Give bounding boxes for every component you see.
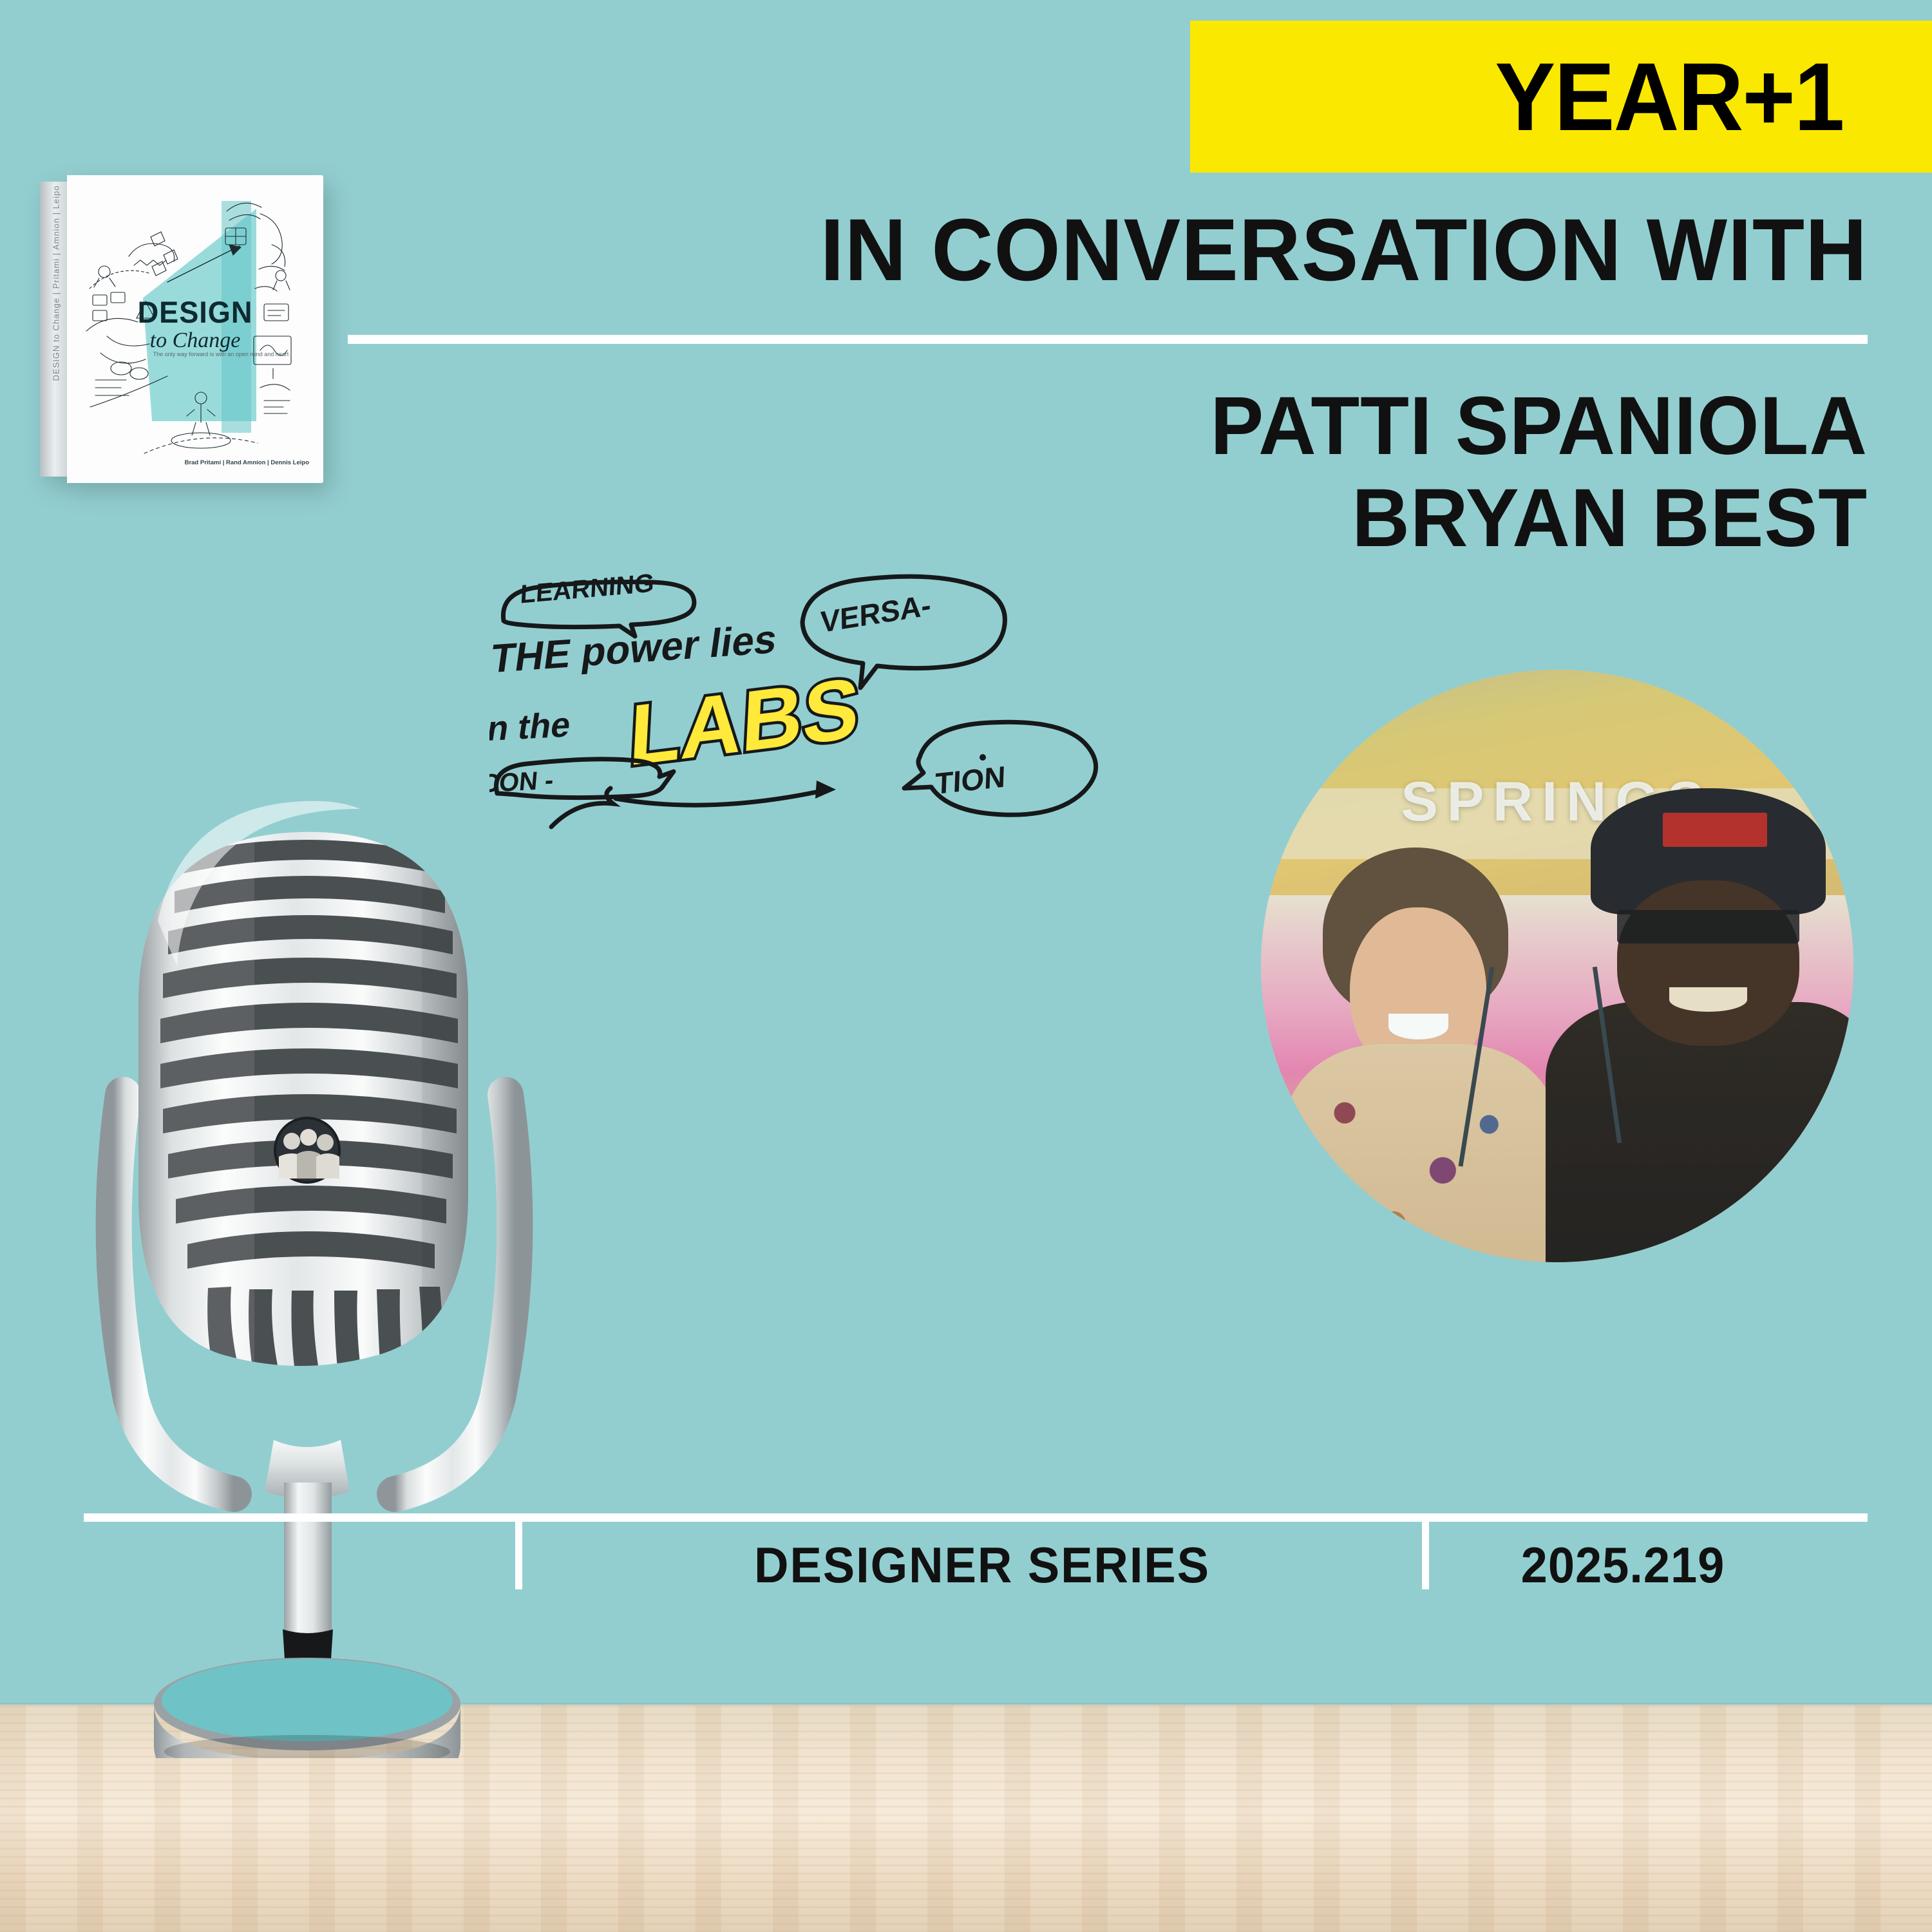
book-title-block: DESIGN to Change (67, 294, 323, 353)
book-authors: Brad Pritami | Rand Amnion | Dennis Leip… (67, 459, 309, 466)
mic-stem (284, 1482, 332, 1636)
bubble-versa-label: VERSA- (820, 588, 931, 639)
book-cover-thumbnail: DESIGN to Change | Pritami | Amnion | Le… (40, 175, 323, 484)
doodle-arrow-line (616, 790, 828, 805)
book-subtitle: The only way forward is with an open min… (144, 350, 298, 359)
bubble-tion-dot (980, 754, 986, 761)
microphone-illustration (61, 792, 615, 1758)
footer-series-label: DESIGNER SERIES (575, 1536, 1389, 1595)
book-spine: DESIGN to Change | Pritami | Amnion | Le… (40, 182, 67, 477)
guest-photo-circle: SPRINGS (1261, 670, 1853, 1262)
doodle-labs-word: LABS (627, 660, 862, 784)
book-spine-text: DESIGN to Change | Pritami | Amnion | Le… (52, 171, 61, 396)
bubble-learning-label: LEARNING (520, 568, 655, 609)
guest-name-2: BRYAN BEST (618, 472, 1868, 564)
doodle-arrow-head (815, 781, 836, 799)
year-badge-label: YEAR+1 (1495, 48, 1843, 145)
eyebrow-text: IN CONVERSATION WITH (393, 205, 1868, 296)
book-title-script: to Change (67, 328, 323, 353)
bubble-tion-label: TION (934, 759, 1006, 800)
doodle-line-2: in the (489, 705, 574, 749)
footer-divider-right (1422, 1513, 1429, 1589)
guest-names-block: PATTI SPANIOLA BRYAN BEST (580, 380, 1868, 565)
year-badge: YEAR+1 (1190, 21, 1932, 173)
footer-divider-rule (84, 1513, 1868, 1522)
photo-color-tint (1261, 670, 1853, 1262)
headline-block: IN CONVERSATION WITH (348, 205, 1868, 296)
title-divider-rule (348, 335, 1868, 344)
book-title-main: DESIGN (72, 294, 318, 330)
mic-base-reflection (162, 1659, 453, 1741)
footer-episode-number: 2025.219 (1452, 1536, 1794, 1595)
footer-divider-left (515, 1513, 522, 1589)
book-front-cover: DESIGN to Change The only way forward is… (67, 175, 323, 483)
poster-canvas: YEAR+1 IN CONVERSATION WITH PATTI SPANIO… (0, 0, 1932, 1932)
guest-name-1: PATTI SPANIOLA (618, 380, 1868, 472)
